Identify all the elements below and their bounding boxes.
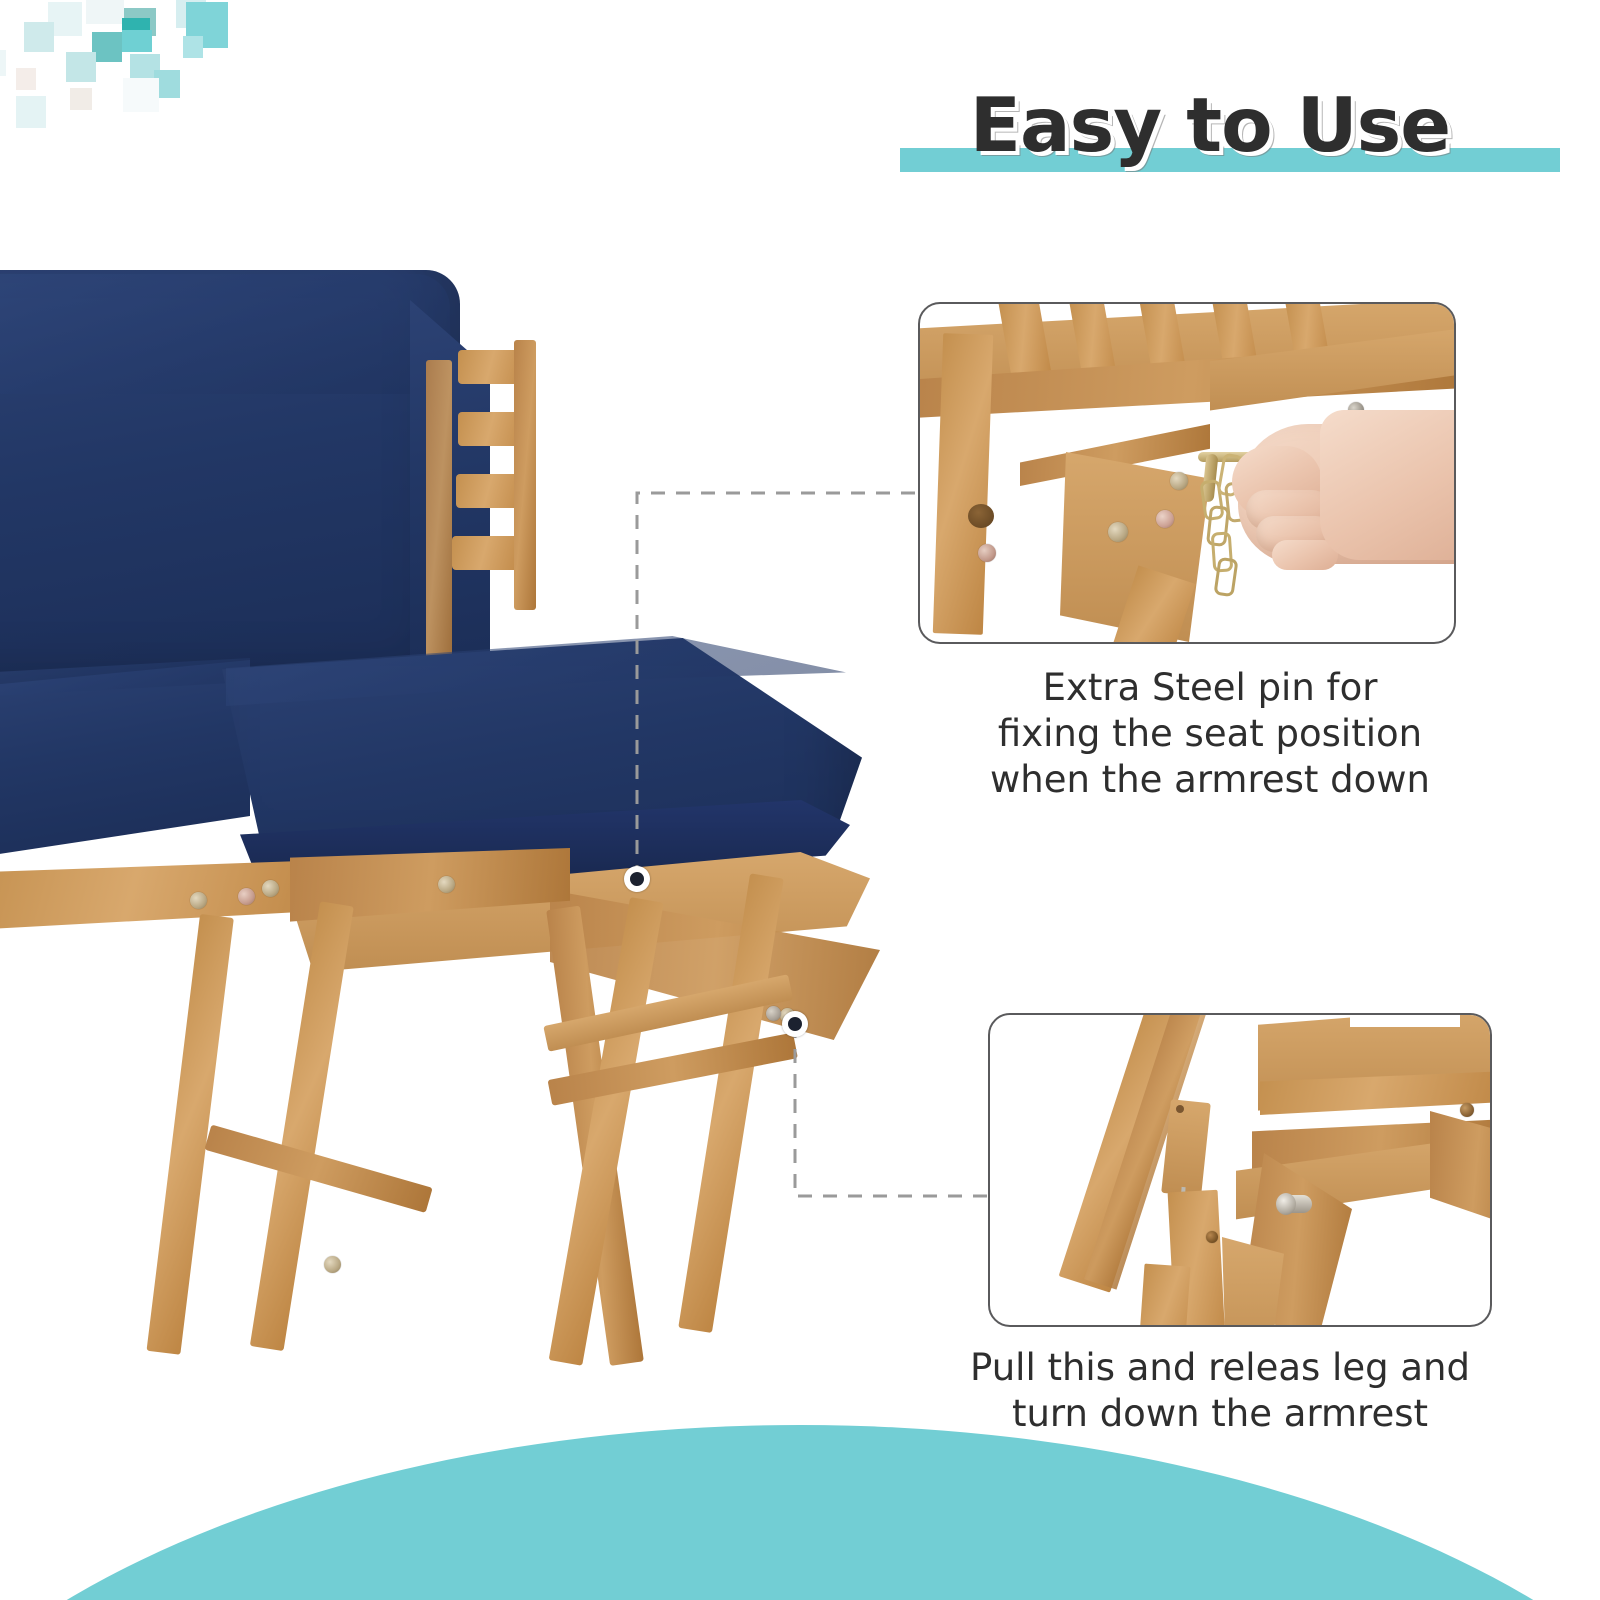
caption-line: Pull this and releas leg and <box>900 1345 1540 1391</box>
infographic-canvas: Easy to Use <box>0 0 1600 1600</box>
decorative-mosaic-squares <box>0 0 250 150</box>
callout-marker-leg-latch <box>782 1011 808 1037</box>
page-title-block: Easy to Use <box>860 60 1560 190</box>
main-product-photo <box>0 240 890 1320</box>
caption-release-leg: Pull this and releas leg and turn down t… <box>900 1345 1540 1437</box>
detail-photo-steel-pin <box>918 302 1456 644</box>
caption-line: turn down the armrest <box>900 1391 1540 1437</box>
caption-line: when the armrest down <box>910 757 1510 803</box>
caption-line: fixing the seat position <box>910 711 1510 757</box>
detail-photo-release-leg <box>988 1013 1492 1327</box>
caption-line: Extra Steel pin for <box>910 665 1510 711</box>
caption-steel-pin: Extra Steel pin for fixing the seat posi… <box>910 665 1510 803</box>
page-title: Easy to Use <box>860 60 1560 190</box>
bottom-teal-swoosh <box>0 1425 1600 1600</box>
callout-marker-seat-hinge <box>624 866 650 892</box>
